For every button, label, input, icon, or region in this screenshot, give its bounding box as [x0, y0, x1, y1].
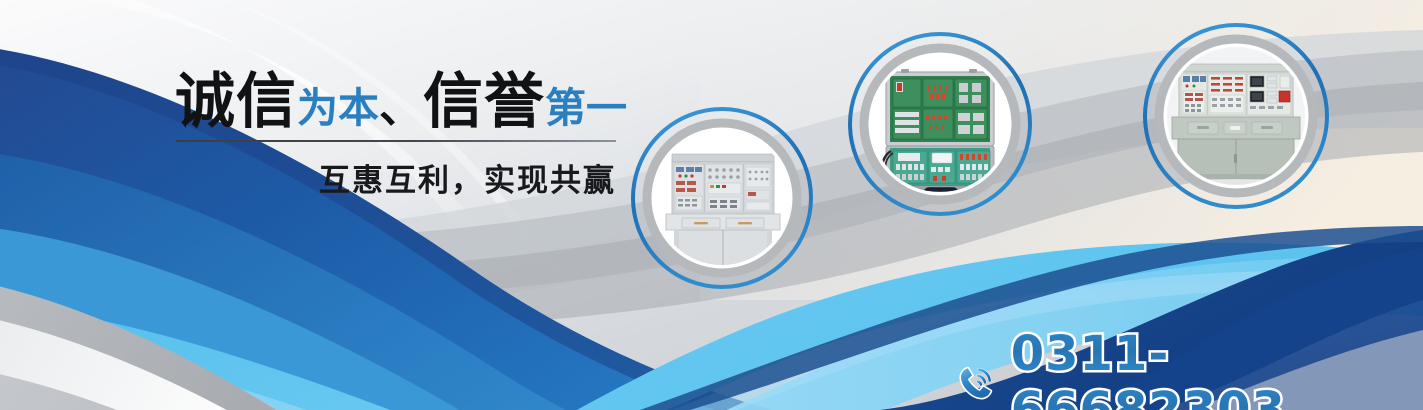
headline-divider	[176, 140, 616, 142]
headline-seg-3: 、	[379, 82, 423, 133]
headline-seg-1: 诚信	[175, 67, 297, 137]
headline-seg-4: 信誉	[423, 67, 545, 137]
headline-seg-5: 第一	[545, 84, 627, 132]
phone-call-icon	[955, 359, 999, 405]
subline: 互惠互利，实现共赢	[176, 155, 616, 200]
circle-1-rings	[630, 106, 814, 290]
circle-2-rings	[847, 31, 1033, 217]
product-circle-3	[1142, 22, 1330, 210]
product-circle-1	[630, 106, 814, 290]
headline-seg-2: 为本	[297, 84, 379, 132]
headline: 诚信为本、信誉第一	[175, 72, 627, 132]
phone-number-wrap: 0311-66682303 0311-66682303	[1011, 326, 1423, 410]
circle-3-rings	[1142, 22, 1330, 210]
product-circle-2	[847, 31, 1033, 217]
promo-banner: 诚信为本、信誉第一 互惠互利，实现共赢	[0, 0, 1423, 410]
phone-block: 0311-66682303 0311-66682303	[955, 326, 1423, 410]
